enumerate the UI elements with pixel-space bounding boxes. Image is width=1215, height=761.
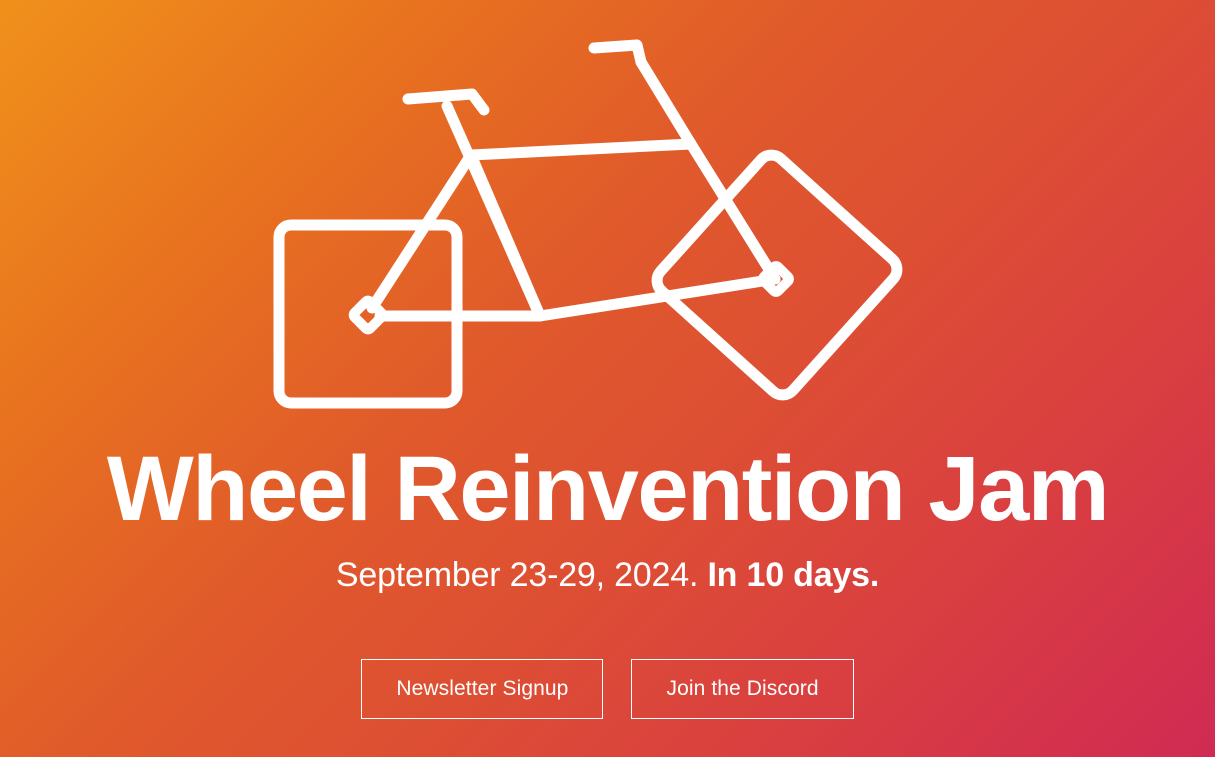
rear-seat-stay [691,144,775,279]
event-countdown: In 10 days. [707,556,879,594]
event-dates: September 23-29, 2024. [336,556,698,594]
saddle [594,45,641,62]
page-bottom-edge [0,757,1215,759]
rear-wheel-square [279,225,457,403]
bicycle-illustration [0,0,1215,430]
down-tube [372,155,471,308]
join-discord-button[interactable]: Join the Discord [631,659,853,719]
rear-hub-diamond [352,299,383,330]
hero-text-block: Wheel Reinvention Jam September 23-29, 2… [0,440,1215,596]
fork-head-tube [447,106,540,316]
handlebar [408,94,484,110]
page-title: Wheel Reinvention Jam [0,440,1215,539]
front-wheel-square [651,149,902,400]
front-hub-diamond [762,265,790,293]
event-dates-line: September 23-29, 2024. In 10 days. [0,539,1215,596]
bicycle-svg [0,0,1215,430]
seat-tube [471,155,540,316]
seat-post [641,62,691,144]
top-tube [471,144,691,155]
cta-button-row: Newsletter Signup Join the Discord [0,659,1215,719]
hero-section: Wheel Reinvention Jam September 23-29, 2… [0,0,1215,759]
newsletter-signup-button[interactable]: Newsletter Signup [361,659,603,719]
lower-rear-tube [540,279,775,316]
